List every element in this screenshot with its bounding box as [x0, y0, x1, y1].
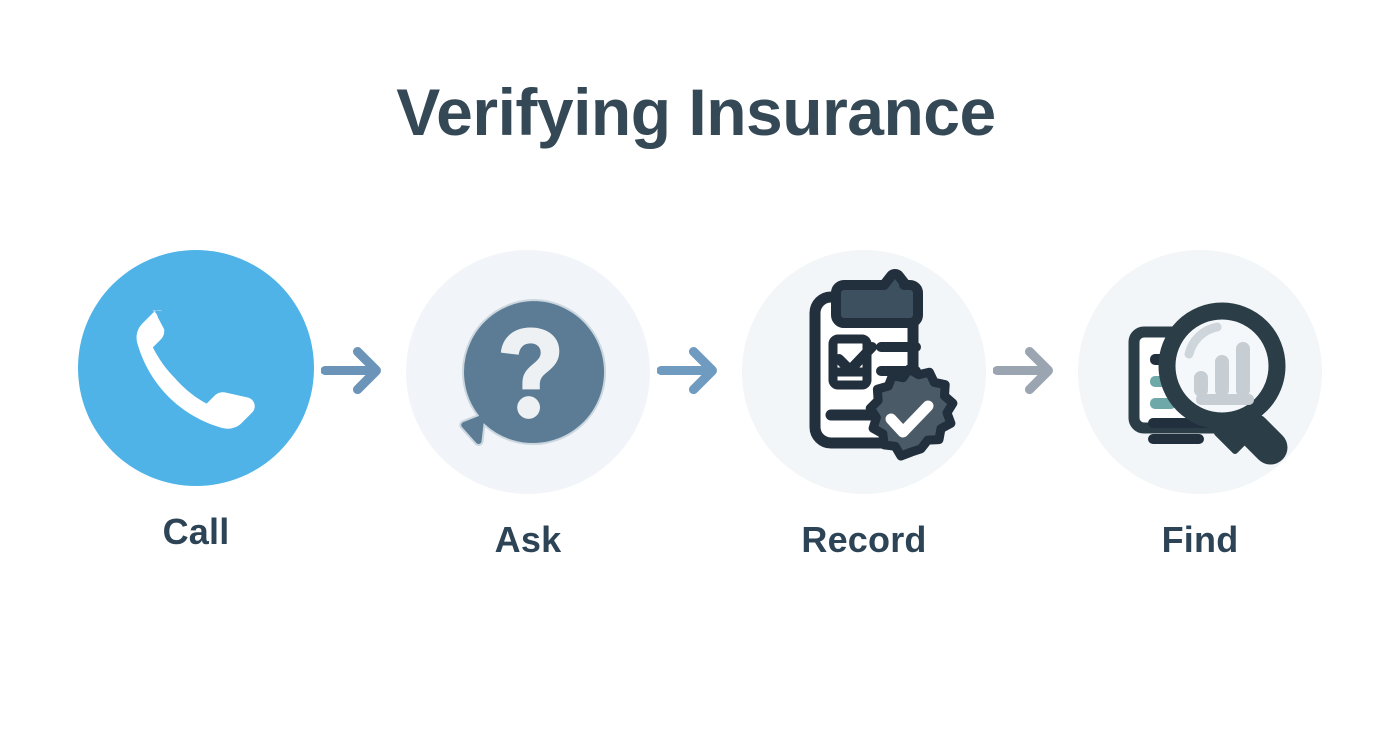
magnifier-document-chart-icon — [1098, 270, 1303, 475]
call-icon-disc — [78, 250, 314, 486]
step-label-record: Record — [801, 522, 926, 558]
step-label-ask: Ask — [495, 522, 562, 558]
arrow-ask-to-record — [650, 250, 742, 494]
arrow-right-icon — [321, 346, 399, 398]
question-speech-bubble-icon — [438, 282, 618, 462]
arrow-right-icon — [657, 346, 735, 398]
ask-icon-disc — [406, 250, 650, 494]
step-call[interactable]: Call — [78, 250, 314, 550]
step-ask[interactable]: Ask — [406, 250, 650, 558]
process-flow: Call Ask — [78, 250, 1314, 580]
find-icon-disc — [1078, 250, 1322, 494]
diagram-canvas: Verifying Insurance Call — [0, 0, 1392, 752]
step-record[interactable]: Record — [742, 250, 986, 558]
arrow-right-icon — [993, 346, 1071, 398]
step-label-call: Call — [163, 514, 230, 550]
arrow-record-to-find — [986, 250, 1078, 494]
step-label-find: Find — [1162, 522, 1239, 558]
phone-icon — [121, 293, 271, 443]
page-title: Verifying Insurance — [0, 78, 1392, 147]
record-icon-disc — [742, 250, 986, 494]
arrow-call-to-ask — [314, 250, 406, 494]
clipboard-check-gear-icon — [759, 267, 969, 477]
step-find[interactable]: Find — [1078, 250, 1322, 558]
